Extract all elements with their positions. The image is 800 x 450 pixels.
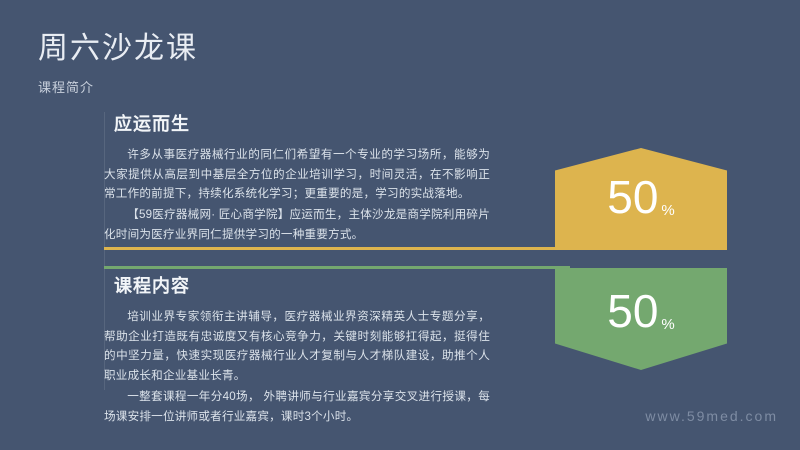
section-1-paragraph-1: 许多从事医疗器械行业的同仁们希望有一个专业的学习场所，能够为大家提供从高层到中基… <box>104 145 490 205</box>
section-1-heading: 应运而生 <box>114 114 504 136</box>
stat-badge-gold: 50 % <box>555 148 727 250</box>
section-1-paragraph-2: 【59医疗器械网· 匠心商学院】应运而生，主体沙龙是商学院利用碎片化时间为医疗业… <box>104 205 490 245</box>
stat-badge-green-inner: 50 % <box>607 288 675 334</box>
stat-badge-green-value: 50 <box>607 288 658 334</box>
title-block: 周六沙龙课 课程简介 <box>38 32 458 96</box>
percent-sign-icon: % <box>661 316 674 333</box>
stat-badge-gold-value: 50 <box>607 174 658 220</box>
percent-sign-icon: % <box>661 202 674 219</box>
section-ying-yun-er-sheng: 应运而生 许多从事医疗器械行业的同仁们希望有一个专业的学习场所，能够为大家提供从… <box>104 112 504 245</box>
section-2-heading: 课程内容 <box>114 276 504 298</box>
page-title: 周六沙龙课 <box>38 32 458 67</box>
section-1-bottom-rule <box>104 247 570 250</box>
section-ke-cheng-nei-rong: 课程内容 培训业界专家领衔主讲辅导，医疗器械业界资深精英人士专题分享，帮助企业打… <box>104 266 504 427</box>
slide-canvas: 周六沙龙课 课程简介 应运而生 许多从事医疗器械行业的同仁们希望有一个专业的学习… <box>0 0 800 450</box>
stat-badge-gold-inner: 50 % <box>607 174 675 220</box>
section-2-paragraph-2: 一整套课程一年分40场， 外聘讲师与行业嘉宾分享交叉进行授课，每场课安排一位讲师… <box>104 387 490 427</box>
watermark: www.59med.com <box>645 408 778 424</box>
section-2-paragraph-1: 培训业界专家领衔主讲辅导，医疗器械业界资深精英人士专题分享，帮助企业打造既有忠诚… <box>104 307 490 387</box>
stat-badge-green: 50 % <box>555 268 727 370</box>
page-subtitle: 课程简介 <box>38 77 458 96</box>
